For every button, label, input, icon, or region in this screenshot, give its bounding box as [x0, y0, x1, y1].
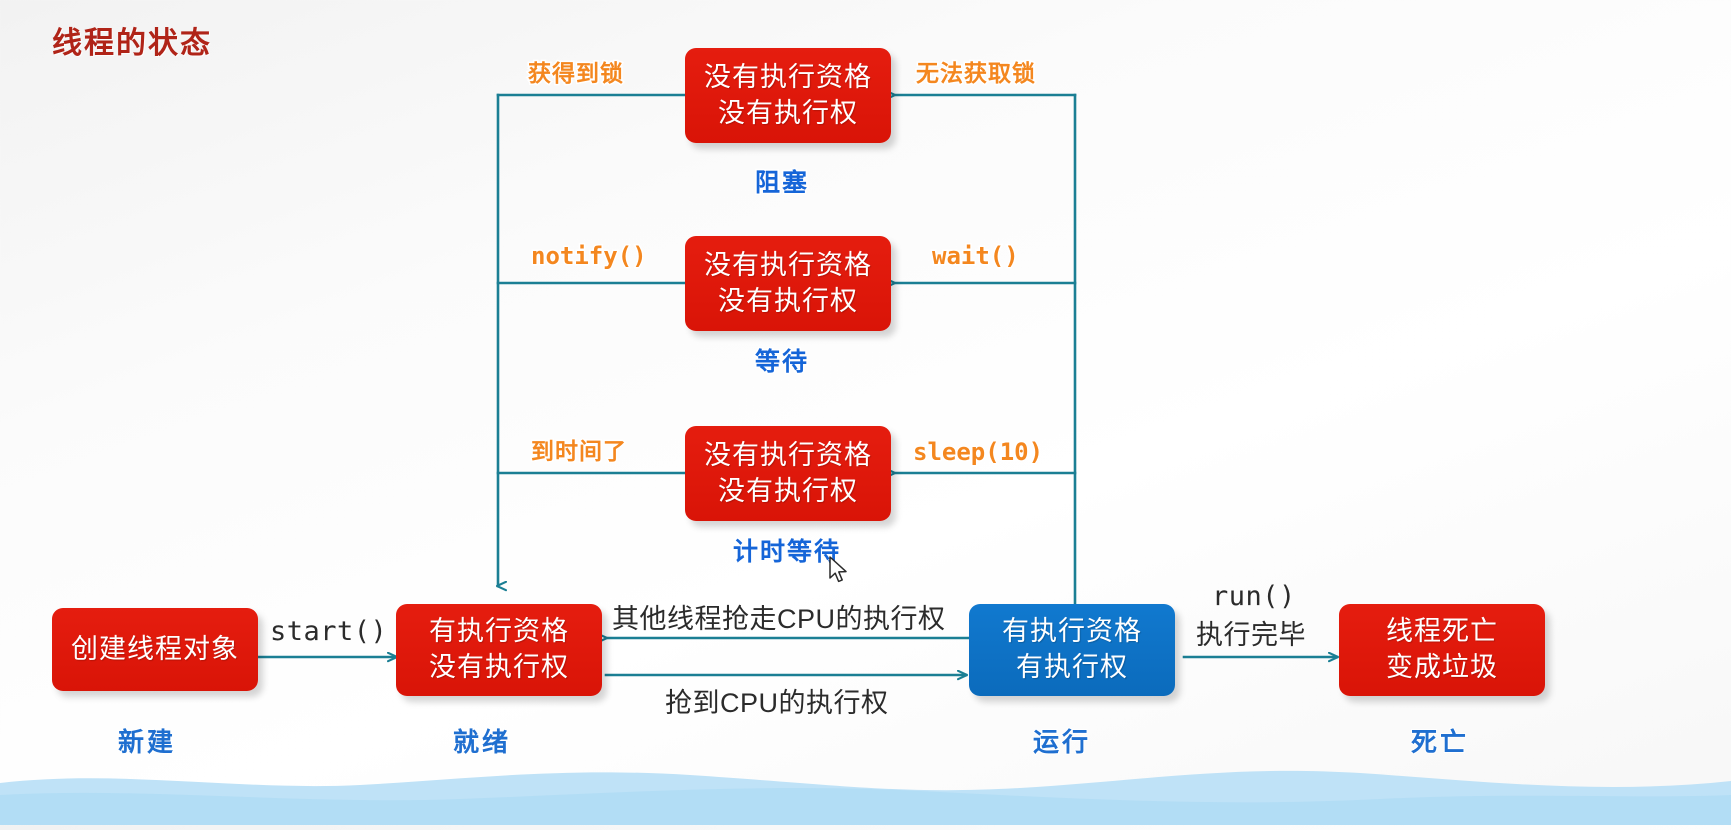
- transition-label-run: run(): [1212, 581, 1296, 612]
- state-box-blocked[interactable]: 没有执行资格 没有执行权: [685, 48, 891, 143]
- state-box-running[interactable]: 有执行资格 有执行权: [969, 604, 1175, 696]
- box-line-1: 有执行资格: [1002, 614, 1142, 650]
- box-line-1: 没有执行资格: [704, 438, 872, 474]
- transition-label-wait: wait(): [932, 242, 1019, 270]
- box-line-1: 创建线程对象: [71, 632, 239, 668]
- state-box-waiting[interactable]: 没有执行资格 没有执行权: [685, 236, 891, 331]
- mouse-cursor-icon: [828, 556, 852, 586]
- diagram-canvas: 线程的状态: [0, 0, 1731, 825]
- box-line-2: 没有执行权: [718, 474, 858, 510]
- state-caption-blocked: 阻塞: [755, 163, 809, 199]
- state-caption-timed-waiting: 计时等待: [733, 532, 841, 568]
- transition-label-run-finished: 执行完毕: [1196, 613, 1306, 652]
- transition-label-obtained-cpu: 抢到CPU的执行权: [665, 681, 889, 720]
- transition-label-sleep: sleep(10): [913, 438, 1043, 466]
- box-line-1: 没有执行资格: [704, 60, 872, 96]
- transition-label-cannot-acquire-lock: 无法获取锁: [916, 54, 1036, 88]
- box-line-1: 没有执行资格: [704, 248, 872, 284]
- box-line-2: 没有执行权: [718, 96, 858, 132]
- state-box-timed-waiting[interactable]: 没有执行资格 没有执行权: [685, 426, 891, 521]
- lifecycle-label-dead: 死亡: [1411, 722, 1469, 759]
- water-band: [0, 755, 1731, 825]
- state-box-new[interactable]: 创建线程对象: [52, 608, 258, 691]
- lifecycle-label-ready: 就绪: [453, 722, 511, 759]
- transition-label-preempted: 其他线程抢走CPU的执行权: [612, 597, 946, 636]
- transition-label-start: start(): [270, 616, 387, 647]
- box-line-2: 没有执行权: [718, 284, 858, 320]
- state-box-dead[interactable]: 线程死亡 变成垃圾: [1339, 604, 1545, 696]
- lifecycle-label-new: 新建: [118, 722, 176, 759]
- box-line-1: 有执行资格: [429, 614, 569, 650]
- box-line-1: 线程死亡: [1386, 614, 1498, 650]
- box-line-2: 有执行权: [1016, 650, 1128, 686]
- box-line-2: 变成垃圾: [1386, 650, 1498, 686]
- state-caption-waiting: 等待: [755, 342, 809, 378]
- transition-label-time-up: 到时间了: [531, 432, 627, 466]
- lifecycle-label-running: 运行: [1033, 722, 1091, 759]
- transition-label-acquire-lock: 获得到锁: [528, 54, 624, 88]
- box-line-2: 没有执行权: [429, 650, 569, 686]
- state-box-ready[interactable]: 有执行资格 没有执行权: [396, 604, 602, 696]
- transition-label-notify: notify(): [531, 242, 647, 270]
